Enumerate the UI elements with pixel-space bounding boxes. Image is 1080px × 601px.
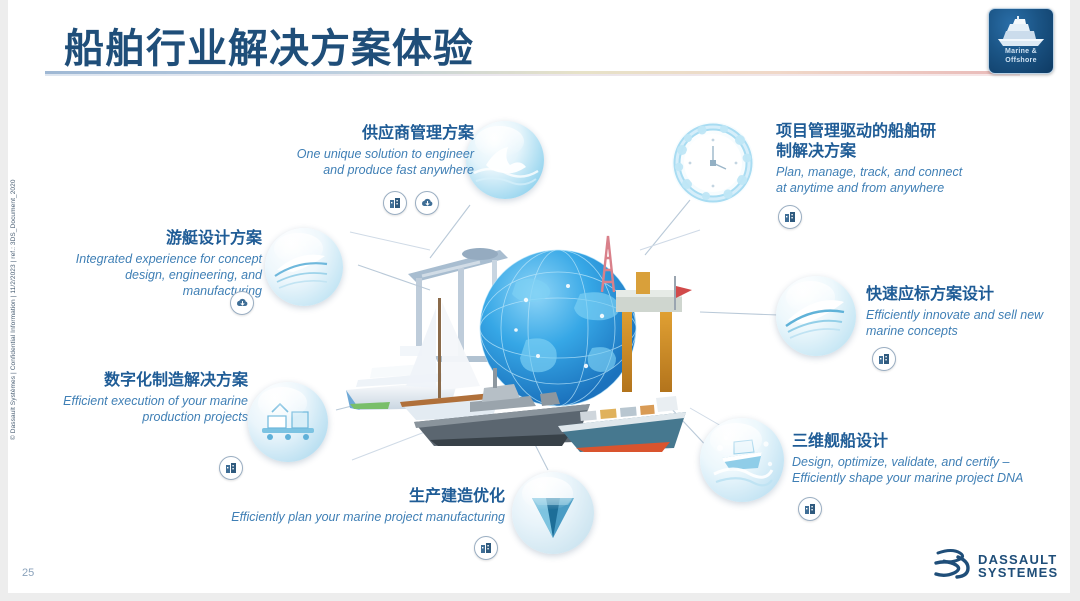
node-title-supplier-management: 供应商管理方案: [234, 124, 474, 144]
node-production-planning: 生产建造优化 Efficiently plan your marine proj…: [205, 487, 505, 525]
factory-icon: [783, 210, 797, 224]
hull-curve-icon: [776, 276, 856, 356]
badge-cloud-supplier-management[interactable]: [415, 191, 439, 215]
ship-splash-icon: [700, 418, 784, 502]
dassault-systemes-logo: DASSAULT SYSTEMES: [932, 549, 1052, 583]
cloud-icon: [235, 297, 250, 309]
node-3d-ship-design: 三维舰船设计 Design, optimize, validate, and c…: [792, 432, 1042, 486]
node-title-bid-design: 快速应标方案设计: [866, 285, 1072, 305]
cloud-icon: [420, 197, 435, 209]
node-supplier-management: 供应商管理方案 One unique solution to engineer …: [234, 124, 474, 178]
container-ship-icon: [558, 396, 686, 452]
badge-factory-program-management[interactable]: [778, 205, 802, 229]
node-title-3d-ship-design: 三维舰船设计: [792, 432, 1042, 452]
factory-icon: [388, 196, 402, 210]
factory-icon: [479, 541, 493, 555]
node-title-program-management: 项目管理驱动的船舶研 制解决方案: [776, 122, 986, 162]
factory-icon: [224, 461, 238, 475]
factory-icon: [877, 352, 891, 366]
node-program-management: 项目管理驱动的船舶研 制解决方案 Plan, manage, track, an…: [776, 122, 986, 196]
factory-icon: [803, 502, 817, 516]
node-title-production-planning: 生产建造优化: [205, 487, 505, 507]
node-title-digital-manufacturing: 数字化制造解决方案: [48, 371, 248, 391]
bubble-supplier-management: [466, 121, 544, 199]
3ds-mark-icon: [932, 549, 976, 579]
node-desc-production-planning: Efficiently plan your marine project man…: [205, 509, 505, 525]
node-desc-3d-ship-design: Design, optimize, validate, and certify …: [792, 454, 1042, 486]
badge-factory-3d-ship-design[interactable]: [798, 497, 822, 521]
badge-cloud-yacht-design[interactable]: [230, 291, 254, 315]
yacht-hull-icon: [265, 228, 343, 306]
logo-line2: SYSTEMES: [978, 566, 1058, 579]
bubble-digital-manufacturing: [248, 382, 328, 462]
water-clock-icon: [672, 122, 754, 204]
node-title-yacht-design: 游艇设计方案: [52, 229, 262, 249]
badge-factory-digital-manufacturing[interactable]: [219, 456, 243, 480]
node-yacht-design: 游艇设计方案 Integrated experience for concept…: [52, 229, 262, 299]
node-digital-manufacturing: 数字化制造解决方案 Efficient execution of your ma…: [48, 371, 248, 425]
diamond-icon: [512, 472, 594, 554]
node-desc-yacht-design: Integrated experience for concept design…: [52, 251, 262, 299]
node-desc-digital-manufacturing: Efficient execution of your marine produ…: [48, 393, 248, 425]
badge-factory-bid-design[interactable]: [872, 347, 896, 371]
node-desc-supplier-management: One unique solution to engineer and prod…: [234, 146, 474, 178]
bubble-production-planning: [512, 472, 594, 554]
badge-factory-supplier-management[interactable]: [383, 191, 407, 215]
assembly-line-icon: [248, 382, 328, 462]
node-bid-design: 快速应标方案设计 Efficiently innovate and sell n…: [866, 285, 1072, 339]
wave-dolphin-icon: [466, 121, 544, 199]
node-desc-program-management: Plan, manage, track, and connect at anyt…: [776, 164, 986, 196]
badge-factory-production-planning[interactable]: [474, 536, 498, 560]
bubble-3d-ship-design: [700, 418, 784, 502]
bubble-yacht-design: [265, 228, 343, 306]
bubble-bid-design: [776, 276, 856, 356]
bubble-program-management: [672, 122, 754, 204]
node-desc-bid-design: Efficiently innovate and sell new marine…: [866, 307, 1072, 339]
central-illustration: [330, 190, 750, 460]
slide-canvas: 船舶行业解决方案体验 Marine & Offshore © Dassault …: [0, 0, 1080, 601]
page-number: 25: [22, 567, 34, 579]
